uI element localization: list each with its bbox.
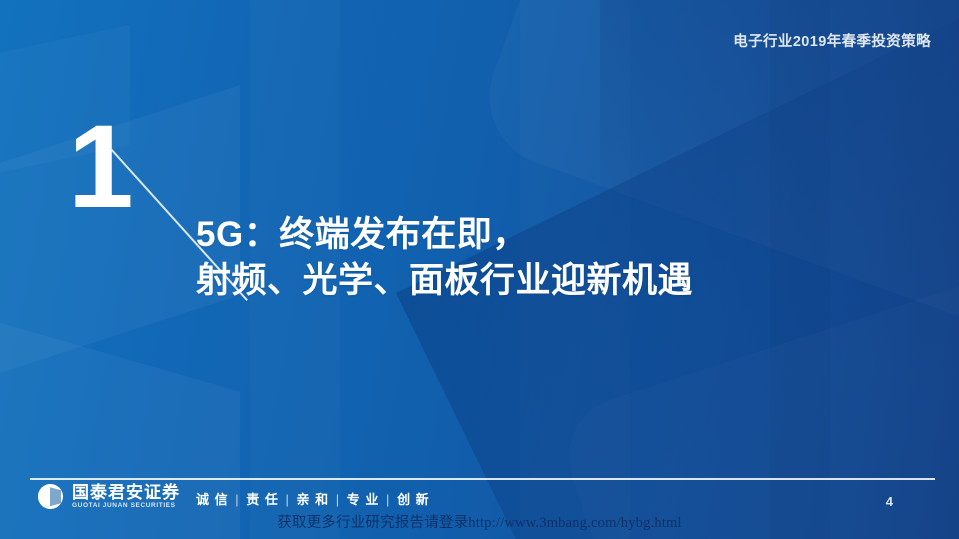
section-title-line-1: 5G：终端发布在即， [196,212,693,258]
footer-brand: 国泰君安证券 GUOTAI JUNAN SECURITIES [38,484,180,510]
slogan-separator-4: | [384,492,392,507]
section-number: 1 [68,108,132,226]
slogan-item-1: 诚 信 [196,492,229,507]
page-number: 4 [886,494,893,509]
brand-name-english: GUOTAI JUNAN SECURITIES [72,503,180,510]
slogan-item-2: 责 任 [246,492,279,507]
slogan-separator-3: | [334,492,342,507]
section-title: 5G：终端发布在即， 射频、光学、面板行业迎新机遇 [196,212,693,304]
slogan-item-5: 创 新 [397,492,430,507]
slogan-separator-2: | [284,492,292,507]
brand-name-chinese: 国泰君安证券 [72,484,180,501]
brand-text-block: 国泰君安证券 GUOTAI JUNAN SECURITIES [72,484,180,510]
slogan-separator-1: | [233,492,241,507]
slogan-item-3: 亲 和 [297,492,330,507]
watermark-url: 获取更多行业研究报告请登录http://www.3mbang.com/hybg.… [0,511,959,532]
slogan-item-4: 专 业 [347,492,380,507]
header-title: 电子行业2019年春季投资策略 [733,30,931,51]
company-logo-icon [38,484,63,509]
section-title-line-2: 射频、光学、面板行业迎新机遇 [196,258,693,304]
slide-canvas: 电子行业2019年春季投资策略 1 5G：终端发布在即， 射频、光学、面板行业迎… [0,0,959,539]
footer-slogan: 诚 信 | 责 任 | 亲 和 | 专 业 | 创 新 [196,489,430,508]
footer-divider [30,478,935,480]
